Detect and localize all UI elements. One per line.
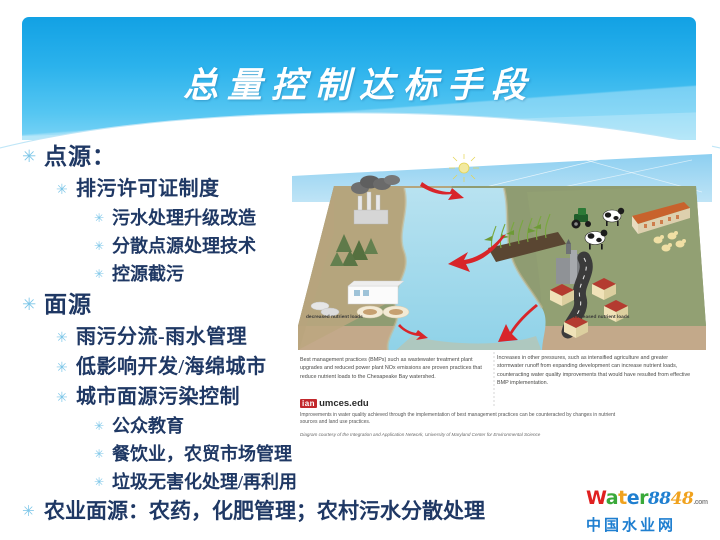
watermark-number-second: 48	[671, 489, 694, 509]
watermark-letter-e: e	[627, 487, 639, 509]
watermark-letter-w: W	[586, 487, 606, 509]
asterisk-bullet-icon: ✳	[22, 288, 44, 314]
watermark-number-first: 88	[648, 489, 671, 509]
diagram-caption-right: Increases in other pressures, such as in…	[497, 354, 693, 388]
list-item-label: 面源	[44, 288, 92, 321]
list-item-label: 农业面源：农药，化肥管理；农村污水分散处理	[44, 496, 485, 526]
list-item: ✳ 垃圾无害化处理/再利用	[94, 468, 346, 496]
asterisk-bullet-icon: ✳	[94, 204, 112, 224]
asterisk-bullet-icon: ✳	[22, 140, 44, 166]
asterisk-bullet-icon: ✳	[94, 440, 112, 460]
asterisk-bullet-icon: ✳	[56, 322, 76, 345]
list-item-label: 低影响开发/海绵城市	[76, 352, 267, 382]
diagram-caption-left: Best management practices (BMPs) such as…	[300, 356, 492, 381]
asterisk-bullet-icon: ✳	[56, 382, 76, 405]
asterisk-bullet-icon: ✳	[22, 496, 44, 519]
list-item-label: 控源截污	[112, 260, 184, 288]
asterisk-bullet-icon: ✳	[94, 468, 112, 488]
list-item: ✳ 餐饮业，农贸市场管理	[94, 440, 346, 468]
ian-source-line: ianumces.edu	[300, 398, 369, 409]
watermark-logo: Water8848.com 中国水业网	[586, 488, 710, 534]
asterisk-bullet-icon: ✳	[94, 260, 112, 280]
watermark-letter-t: t	[618, 487, 627, 509]
title-banner: 总量控制达标手段	[22, 17, 696, 140]
diagram-label-increased: increased nutrient loads	[574, 315, 629, 320]
presentation-slide: 总量控制达标手段 ✳ 点源： ✳ 排污许可证制度 ✳ 污水处理升级改造 ✳ 分散…	[0, 0, 720, 540]
watermark-water-text: Water8848.com	[586, 488, 710, 513]
asterisk-bullet-icon: ✳	[94, 412, 112, 432]
page-title: 总量控制达标手段	[22, 57, 696, 108]
list-item-label: 排污许可证制度	[76, 174, 220, 204]
list-item-label: 污水处理升级改造	[112, 204, 256, 232]
watermark-chinese-name: 中国水业网	[586, 514, 710, 535]
diagram-label-decreased: decreased nutrient loads	[306, 315, 363, 320]
ian-source-text: umces.edu	[319, 398, 369, 409]
diagram-credit: Diagram courtesy of the Integration and …	[300, 432, 630, 437]
list-item-label: 点源：	[44, 140, 116, 173]
list-item-label: 分散点源处理技术	[112, 232, 256, 260]
asterisk-bullet-icon: ✳	[94, 232, 112, 252]
diagram-note: Improvements in water quality achieved t…	[300, 412, 630, 426]
diagram-illustration	[292, 140, 712, 440]
watermark-domain: .com	[693, 499, 707, 506]
asterisk-bullet-icon: ✳	[56, 174, 76, 197]
list-item-label: 公众教育	[112, 412, 184, 440]
watermark-letter-a: a	[606, 487, 618, 509]
list-item-final: ✳ 农业面源：农药，化肥管理；农村污水分散处理	[22, 496, 346, 526]
asterisk-bullet-icon: ✳	[56, 352, 76, 375]
list-item-label: 餐饮业，农贸市场管理	[112, 440, 292, 468]
watermark-letter-r: r	[639, 487, 648, 509]
bmp-landscape-diagram: decreased nutrient loads increased nutri…	[292, 140, 712, 440]
list-item-label: 垃圾无害化处理/再利用	[112, 468, 297, 496]
list-item-label: 雨污分流-雨水管理	[76, 322, 247, 352]
ian-logo-icon: ian	[300, 399, 317, 408]
list-item-label: 城市面源污染控制	[76, 382, 240, 412]
